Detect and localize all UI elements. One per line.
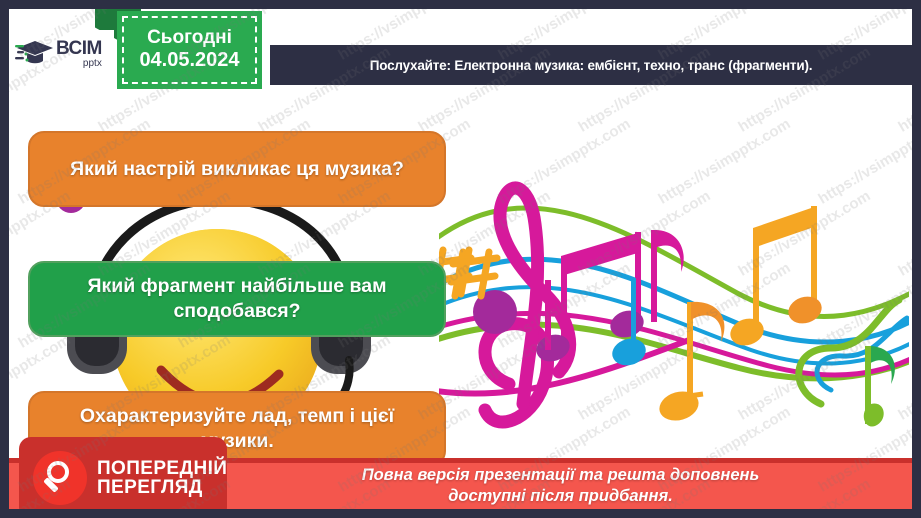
question-text-2: Який фрагмент найбільше вам сподобався? [52, 274, 422, 324]
header-bar: Послухайте: Електронна музика: ембієнт, … [270, 45, 912, 85]
preview-badge-line1: ПОПЕРЕДНІЙ [97, 459, 227, 478]
music-notes-illustration [439, 104, 909, 454]
logo-suffix: pptx [56, 59, 102, 69]
preview-badge-line2: ПЕРЕГЛЯД [97, 478, 227, 497]
preview-badge: ПОПЕРЕДНІЙ ПЕРЕГЛЯД [19, 437, 227, 509]
question-box-2: Який фрагмент найбільше вам сподобався? [28, 261, 446, 337]
date-badge-label: Сьогодні [147, 27, 232, 49]
purchase-notice-line2: доступні після придбання. [448, 486, 673, 507]
graduation-cap-icon [15, 37, 55, 71]
question-box-1: Який настрій викликає ця музика? [28, 131, 446, 207]
purchase-notice-line1: Повна версія презентації та решта доповн… [362, 465, 760, 486]
music-notes-svg [439, 104, 909, 454]
brand-logo: ВСІМ pptx [9, 30, 114, 78]
slide-canvas: ВСІМ pptx Сьогодні 04.05.2024 Послухайте… [9, 9, 912, 509]
page-title: Послухайте: Електронна музика: ембієнт, … [370, 58, 813, 73]
slide-frame: ВСІМ pptx Сьогодні 04.05.2024 Послухайте… [0, 0, 921, 518]
magnifier-icon [33, 451, 87, 505]
date-badge: Сьогодні 04.05.2024 [117, 11, 262, 89]
logo-name: ВСІМ [56, 39, 102, 58]
question-text-1: Який настрій викликає ця музика? [70, 157, 404, 182]
date-badge-value: 04.05.2024 [139, 48, 239, 73]
